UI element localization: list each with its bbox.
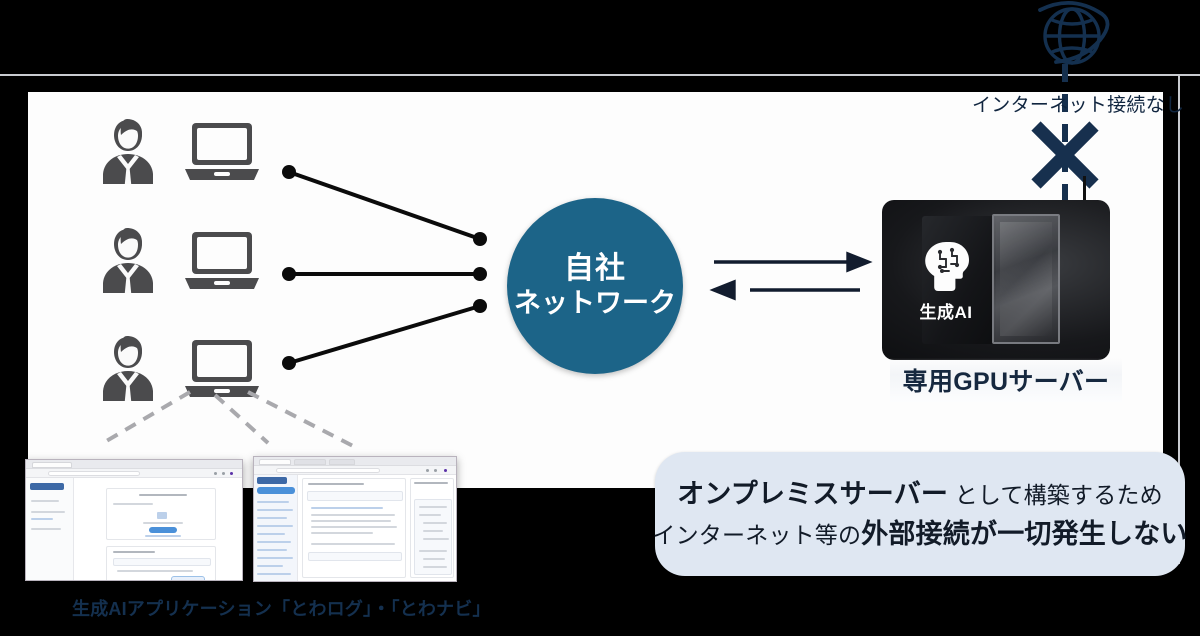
card-step: [113, 503, 153, 505]
chat-input[interactable]: [308, 552, 402, 561]
chat-item: [257, 573, 291, 575]
chat-item: [257, 525, 293, 527]
network-circle: 自社 ネットワーク: [507, 198, 683, 374]
browser-control-dot: [230, 472, 233, 475]
chat-item: [257, 533, 285, 535]
field-row: [113, 558, 211, 566]
ai-label: 生成AI: [906, 298, 986, 323]
callout-strong-2: 外部接続が一切発生しない: [861, 519, 1187, 549]
doc-line: [423, 530, 443, 532]
browser-control-dot: [444, 469, 447, 472]
no-internet-label: インターネット接続なし: [972, 90, 1162, 117]
doc-line: [423, 558, 445, 560]
globe-icon: [1026, 0, 1114, 82]
sidebar-item: [31, 511, 65, 513]
frame-rule-top: [0, 74, 1200, 76]
chat-item: [257, 517, 287, 519]
person-icon: [100, 116, 156, 184]
network-circle-line2: ネットワーク: [514, 287, 676, 321]
browser-address-field: [48, 471, 140, 476]
chat-reply-line: [311, 543, 395, 545]
browser-control-dot: [214, 472, 217, 475]
doc-toolbar: [414, 482, 448, 484]
callout-strong-1: オンプレミスサーバー: [677, 479, 948, 509]
chat-item: [257, 541, 291, 543]
server-cable: [1083, 176, 1086, 202]
browser-address-field: [276, 468, 380, 473]
chat-item: [257, 565, 283, 567]
upload-hint: [143, 522, 183, 524]
chat-reply-head: [311, 507, 383, 509]
laptop-icon: [183, 230, 261, 292]
browser-control-dot: [426, 469, 429, 472]
gpu-caption-band: 専用GPUサーバー: [890, 358, 1122, 402]
towalog-app-screenshot[interactable]: [25, 459, 243, 581]
browser-tab: [32, 462, 72, 468]
field-note: [117, 570, 193, 572]
chat-title: [308, 483, 364, 485]
callout-pre-2: インターネット等の: [652, 522, 861, 548]
chat-message: [307, 491, 403, 501]
document-panel: [410, 478, 454, 578]
app-body: [26, 478, 242, 580]
callout-line-1: オンプレミスサーバー として構築するため: [677, 474, 1163, 515]
app-logo: [257, 477, 287, 484]
chat-item: [257, 501, 289, 503]
upload-card: [106, 488, 216, 540]
chat-reply-line: [311, 514, 395, 516]
thumbnails-caption: 生成AIアプリケーション「とわログ」・「とわナビ」: [72, 595, 492, 621]
upload-sub: [145, 535, 181, 537]
chat-item: [257, 557, 293, 559]
sidebar-item: [31, 500, 59, 502]
gpu-server-caption: 専用GPUサーバー: [903, 362, 1110, 398]
server-glass-panel: [992, 214, 1060, 344]
card-title: [139, 494, 187, 496]
settings-card: [106, 546, 216, 581]
chat-reply-line: [311, 526, 397, 528]
towanavi-app-screenshot[interactable]: [253, 456, 457, 582]
person-icon: [100, 225, 156, 293]
browser-control-dot: [222, 472, 225, 475]
upload-icon: [157, 512, 167, 519]
chat-reply-line: [311, 520, 391, 522]
chat-panel: [302, 478, 406, 578]
app-sidebar: [254, 475, 298, 581]
browser-tab: [294, 459, 326, 465]
doc-line: [423, 522, 447, 524]
sidebar-item: [31, 518, 53, 520]
browser-tab: [259, 459, 291, 465]
sidebar-item: [31, 528, 61, 530]
chat-reply-line: [311, 532, 373, 534]
callout-rest-1: として構築するため: [948, 482, 1163, 508]
top-black-band: [0, 0, 1200, 76]
doc-line: [419, 550, 447, 552]
chat-item: [257, 509, 293, 511]
gpu-server-image: [882, 200, 1110, 360]
laptop-icon: [183, 121, 261, 183]
callout-line-2: インターネット等の外部接続が一切発生しない: [652, 514, 1187, 555]
person-icon: [100, 333, 156, 401]
card-heading: [113, 551, 155, 553]
callout-box: オンプレミスサーバー として構築するため インターネット等の外部接続が一切発生し…: [655, 452, 1185, 576]
new-chat-button[interactable]: [257, 487, 295, 494]
upload-button[interactable]: [149, 527, 177, 533]
network-circle-line1: 自社: [564, 251, 626, 288]
browser-control-dot: [434, 469, 437, 472]
chat-item: [257, 549, 287, 551]
doc-line: [419, 506, 447, 508]
app-body: [254, 475, 456, 581]
x-cross-icon: [1028, 118, 1102, 192]
bidirectional-arrows: [700, 240, 900, 320]
app-sidebar: [26, 478, 74, 580]
ai-head-icon: [920, 240, 972, 296]
doc-line: [423, 566, 447, 568]
submit-button[interactable]: [171, 576, 205, 581]
doc-line: [419, 514, 441, 516]
browser-tab: [329, 459, 355, 465]
doc-viewer: [414, 499, 452, 575]
laptop-icon: [183, 338, 261, 400]
doc-line: [423, 538, 449, 540]
app-logo: [30, 483, 64, 490]
